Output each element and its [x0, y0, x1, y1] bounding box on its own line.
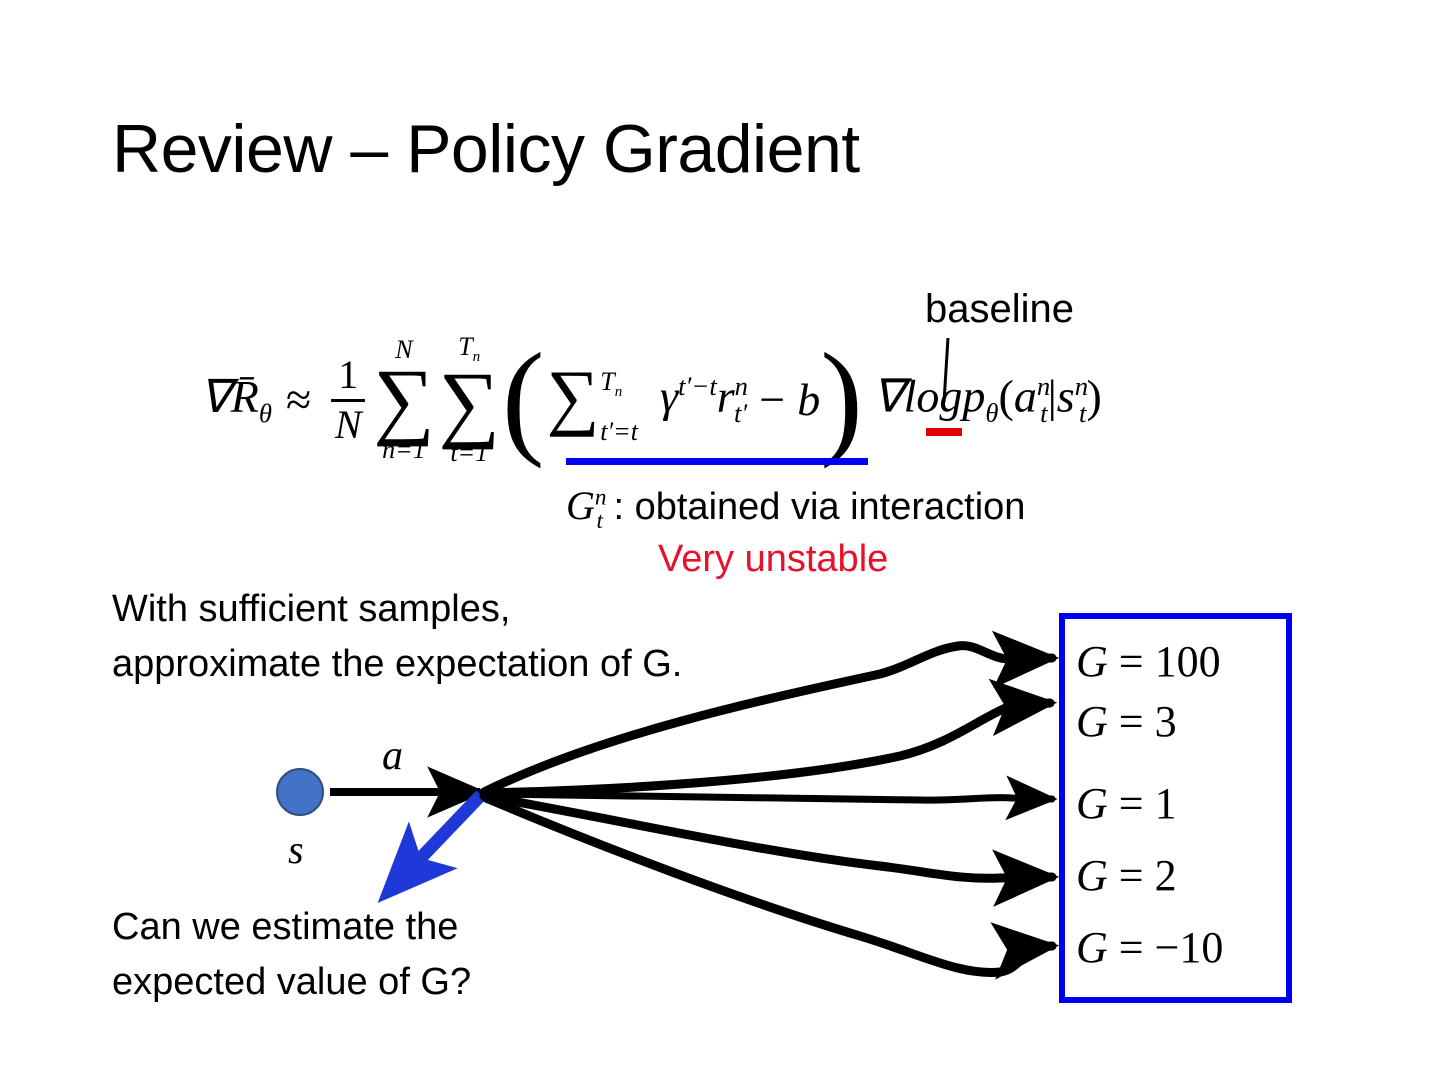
return-value-number: 2 [1155, 851, 1177, 900]
return-value-symbol: G [1076, 697, 1108, 746]
trajectory-curve [486, 798, 1052, 972]
formula-discount-term: γt′−trnt′ [660, 373, 747, 426]
formula-fraction-one-over-n: 1 N [331, 354, 365, 446]
return-value-number: 3 [1155, 697, 1177, 746]
inner-sum-limits: Tn t′=t [599, 367, 638, 441]
return-value-symbol: G [1076, 851, 1108, 900]
formula-baseline-symbol: b [797, 377, 820, 423]
slide-canvas: Review – Policy Gradient baseline ∇R̄θ ≈… [0, 0, 1440, 1080]
formula-sum-t: Tn ∑ t=1 [439, 334, 500, 465]
return-value-symbol: G [1076, 923, 1108, 972]
formula-approx-sign: ≈ [286, 377, 311, 423]
action-arrow-label: a [382, 732, 403, 780]
samples-line-2: approximate the expectation of G. [112, 637, 682, 692]
return-value-symbol: G [1076, 637, 1108, 686]
return-value-symbol: G [1076, 779, 1108, 828]
return-value-item: G = 1 [1076, 778, 1177, 829]
action-symbol: a [1014, 371, 1037, 422]
conditional-bar: | [1048, 371, 1057, 422]
formula-grad-log-policy: ∇logpθ(ant|snt) [873, 373, 1102, 426]
sigma-icon: ∑ [546, 367, 599, 428]
page-title: Review – Policy Gradient [112, 110, 860, 188]
return-value-equals: = [1119, 851, 1144, 900]
return-value-item: G = 100 [1076, 636, 1221, 687]
return-value-item: G = 2 [1076, 850, 1177, 901]
fraction-denominator: N [335, 404, 362, 446]
return-value-item: G = 3 [1076, 696, 1177, 747]
grad-log-subscript: θ [985, 398, 998, 428]
inner-sum-upper-base: T [600, 367, 614, 396]
outer-sum-lower-limit: n=1 [382, 437, 426, 463]
baseline-annotation-label: baseline [925, 287, 1074, 332]
samples-paragraph: With sufficient samples, approximate the… [112, 582, 682, 692]
question-line-2: expected value of G? [112, 955, 471, 1010]
formula-inner-sum: ∑ Tn t′=t [546, 367, 637, 441]
fraction-numerator: 1 [338, 354, 358, 396]
state-symbol: s [1057, 371, 1075, 422]
baseline-term-red-underline [926, 428, 962, 436]
formula-lhs: ∇R̄θ [200, 374, 272, 427]
gamma-exponent: t′−t [678, 371, 717, 401]
close-paren: ) [820, 352, 863, 444]
sigma-icon: ∑ [439, 366, 500, 440]
return-term-blue-underline [566, 458, 868, 465]
return-value-equals: = [1119, 697, 1144, 746]
sigma-icon: ∑ [373, 363, 434, 437]
sum-t-lower-limit: t=1 [450, 440, 488, 466]
policy-args-open-paren: ( [998, 371, 1013, 422]
inner-sum-lower-limit: t′=t [600, 417, 638, 447]
unstable-warning-label: Very unstable [658, 538, 888, 581]
return-definition-note: Gnt : obtained via interaction [566, 482, 1025, 535]
policy-args-close-paren: ) [1086, 371, 1101, 422]
return-note-symbol: Gnt [566, 483, 603, 528]
inner-sum-upper-sub: n [615, 384, 623, 400]
reward-symbol: r [717, 371, 735, 422]
return-value-number: 1 [1155, 779, 1177, 828]
gamma-symbol: γ [660, 371, 678, 422]
formula-lhs-symbol: ∇R̄ [200, 371, 259, 422]
action-subscript: t [1040, 398, 1047, 428]
inner-sum-upper-limit: Tn [600, 367, 638, 401]
formula-lhs-subscript: θ [259, 398, 272, 428]
reward-superscript: n [735, 371, 748, 401]
grad-log-symbol: ∇logp [873, 371, 986, 422]
return-value-number: −10 [1155, 923, 1224, 972]
return-note-text: : obtained via interaction [603, 486, 1026, 528]
formula-minus-sign: − [759, 377, 785, 423]
trajectory-curve [484, 703, 1050, 793]
return-value-equals: = [1119, 923, 1144, 972]
return-value-equals: = [1119, 779, 1144, 828]
trajectory-curve [484, 794, 1052, 800]
state-node-circle [276, 768, 324, 816]
samples-line-1: With sufficient samples, [112, 582, 682, 637]
question-paragraph: Can we estimate the expected value of G? [112, 900, 471, 1010]
formula-outer-sum-n: N ∑ n=1 [373, 337, 434, 463]
alternative-action-arrow [392, 795, 481, 888]
return-value-item: G = −10 [1076, 922, 1223, 973]
trajectory-curve [484, 796, 1052, 878]
return-note-g: G [566, 483, 595, 528]
state-node-label: s [288, 826, 304, 873]
policy-gradient-formula: ∇R̄θ ≈ 1 N N ∑ n=1 Tn ∑ t=1 ( ∑ Tn t′=t [200, 330, 1102, 470]
question-line-1: Can we estimate the [112, 900, 471, 955]
return-value-number: 100 [1155, 637, 1221, 686]
return-value-equals: = [1119, 637, 1144, 686]
open-paren: ( [502, 352, 545, 444]
reward-subscript: t′ [734, 398, 747, 428]
